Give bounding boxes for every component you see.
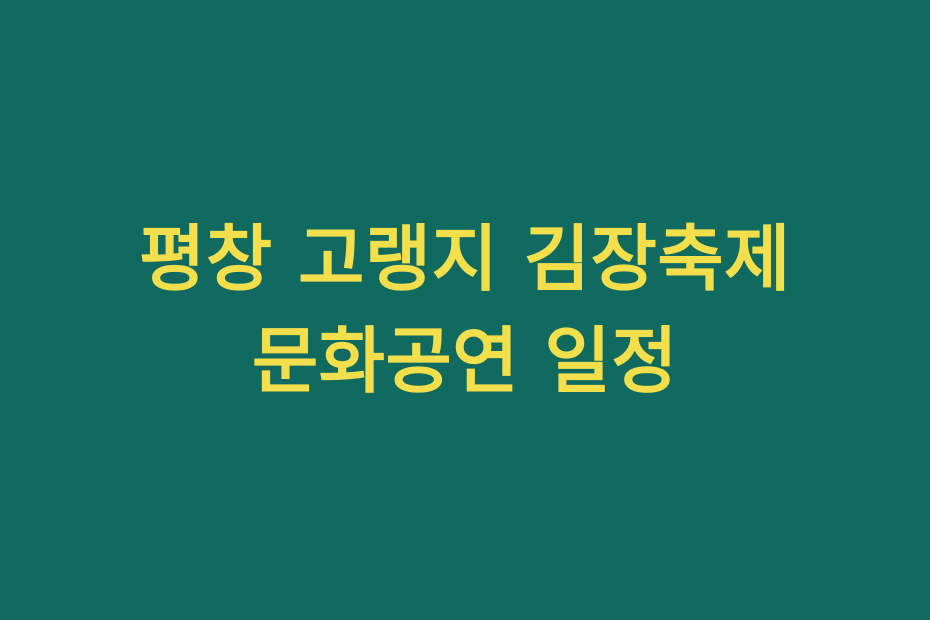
headline-block: 평창 고랭지 김장축제 문화공연 일정 xyxy=(57,208,873,412)
banner-canvas: 평창 고랭지 김장축제 문화공연 일정 xyxy=(0,0,930,620)
page-title: 평창 고랭지 김장축제 문화공연 일정 xyxy=(57,208,873,412)
